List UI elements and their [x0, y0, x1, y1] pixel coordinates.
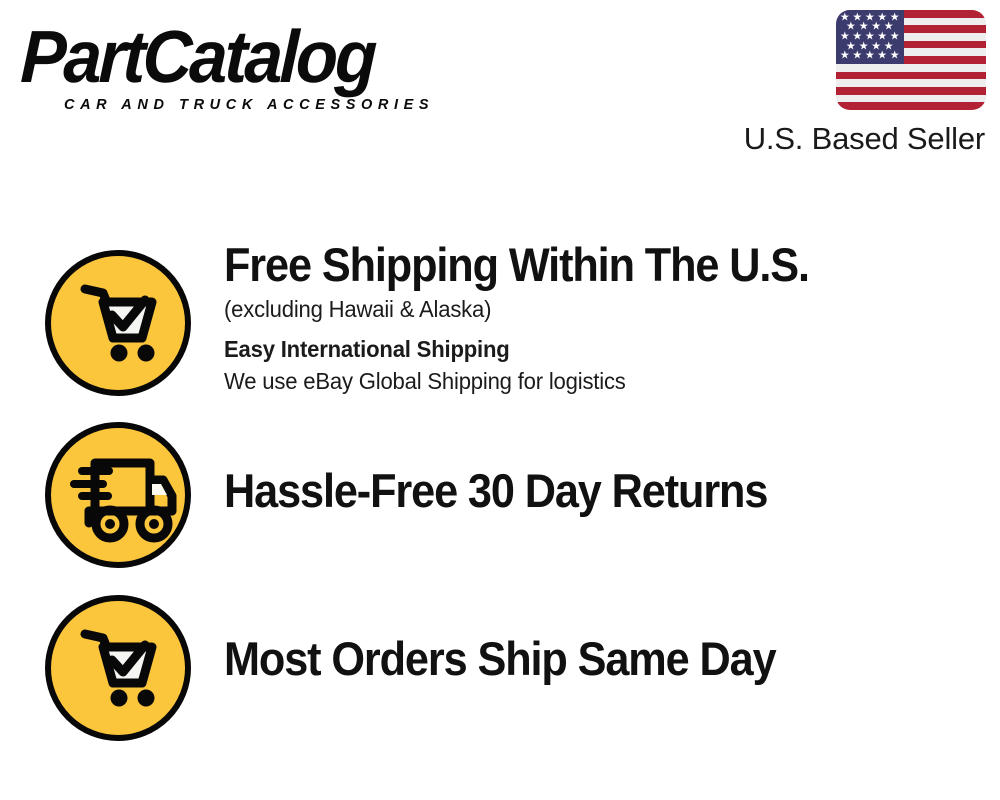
feature-note: (excluding Hawaii & Alaska) — [224, 294, 950, 325]
brand-tagline: CAR AND TRUCK ACCESSORIES — [64, 97, 492, 113]
brand-logo: PartCatalog CAR AND TRUCK ACCESSORIES — [22, 18, 492, 118]
us-flag-icon: ★ ★ ★ ★ ★ ★ ★ ★ ★ ★ ★ ★ ★ ★ ★ ★ ★ ★ ★ ★ — [836, 10, 986, 110]
feature-headline: Most Orders Ship Same Day — [224, 632, 920, 686]
shipping-info-banner: PartCatalog CAR AND TRUCK ACCESSORIES — [0, 0, 1000, 800]
feature-sub-strong: Easy International Shipping — [224, 334, 950, 365]
us-based-seller-block: ★ ★ ★ ★ ★ ★ ★ ★ ★ ★ ★ ★ ★ ★ ★ ★ ★ ★ ★ ★ — [696, 10, 986, 157]
feature-text-block: Free Shipping Within The U.S. (excluding… — [224, 238, 980, 397]
brand-wordmark: PartCatalog — [19, 18, 459, 96]
feature-headline: Hassle-Free 30 Day Returns — [224, 464, 920, 518]
delivery-truck-icon — [45, 422, 191, 568]
feature-headline: Free Shipping Within The U.S. — [224, 238, 920, 292]
shopping-cart-check-icon — [45, 250, 191, 396]
feature-text-block: Hassle-Free 30 Day Returns — [224, 464, 980, 518]
feature-sub-plain: We use eBay Global Shipping for logistic… — [224, 366, 950, 397]
feature-row-same-day-ship: Most Orders Ship Same Day — [0, 590, 1000, 745]
feature-text-block: Most Orders Ship Same Day — [224, 632, 980, 686]
feature-row-returns: Hassle-Free 30 Day Returns — [0, 420, 1000, 570]
flag-canton: ★ ★ ★ ★ ★ ★ ★ ★ ★ ★ ★ ★ ★ ★ ★ ★ ★ ★ ★ ★ — [836, 10, 904, 64]
feature-row-free-shipping: Free Shipping Within The U.S. (excluding… — [0, 238, 1000, 413]
us-based-seller-label: U.S. Based Seller — [696, 121, 985, 157]
shopping-cart-check-icon — [45, 595, 191, 741]
